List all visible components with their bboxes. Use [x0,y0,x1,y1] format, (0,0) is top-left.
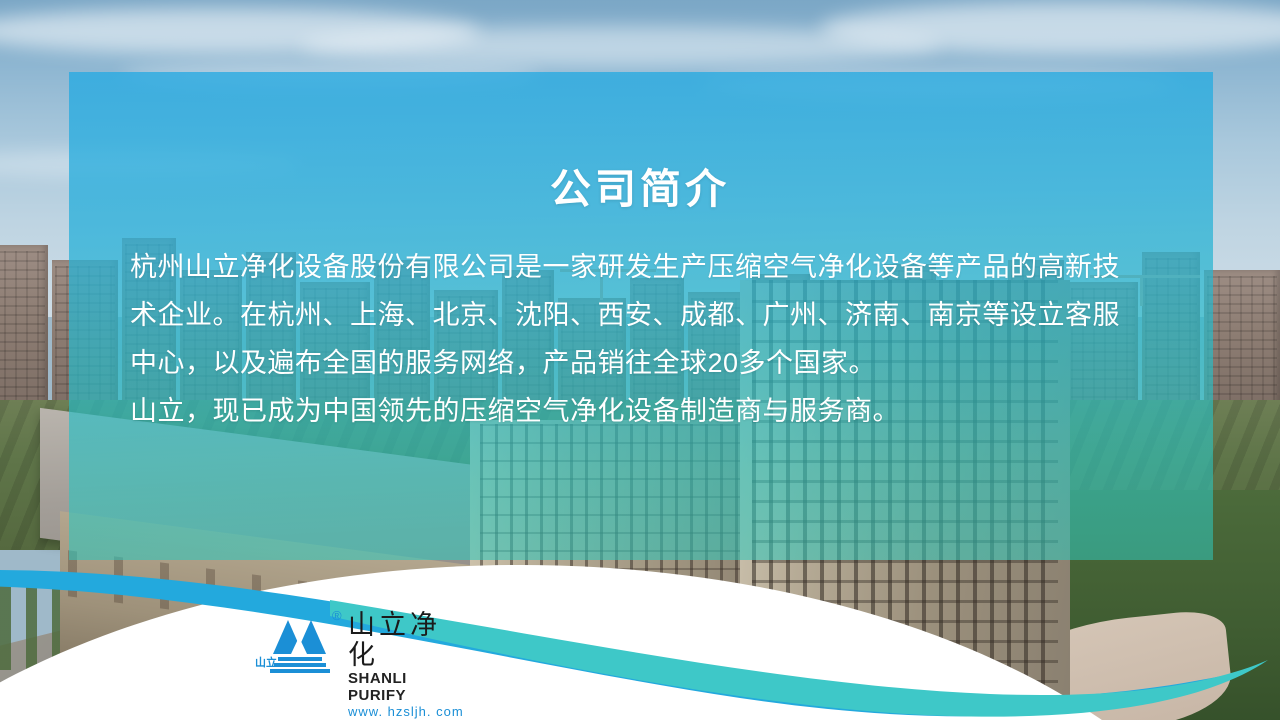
registered-trademark-icon: ® [332,608,342,623]
company-logo: ® 山立 山立净化 SHANLI PURIFY www. hzsljh. com [252,606,467,682]
swoosh-blue-path [0,570,1250,716]
swoosh-decoration [0,520,1280,720]
paragraph-line: 杭州山立净化设备股份有限公司是一家研发生产压缩空气净化设备等产品的高新技 [130,243,1110,291]
swoosh-teal-path [330,600,1268,717]
logo-mark-label: 山立 [255,654,277,670]
paragraph-line: 中心，以及遍布全国的服务网络，产品销往全球20多个国家。 [130,339,1110,387]
logo-website: www. hzsljh. com [348,704,467,720]
logo-company-en: SHANLI PURIFY [348,670,467,704]
page-title: 公司简介 [0,155,1280,215]
presentation-slide: 公司简介 杭州山立净化设备股份有限公司是一家研发生产压缩空气净化设备等产品的高新… [0,0,1280,720]
body-copy: 杭州山立净化设备股份有限公司是一家研发生产压缩空气净化设备等产品的高新技 术企业… [130,243,1110,435]
logo-company-cn: 山立净化 [348,610,467,670]
paragraph-line: 山立，现已成为中国领先的压缩空气净化设备制造商与服务商。 [130,387,1110,435]
paragraph-line: 术企业。在杭州、上海、北京、沈阳、西安、成都、广州、济南、南京等设立客服 [130,291,1110,339]
logo-wordmark: 山立净化 SHANLI PURIFY www. hzsljh. com [348,610,467,720]
apartment-tower [0,245,48,410]
apartment-tower [1204,270,1280,410]
swoosh-svg [0,520,1280,720]
